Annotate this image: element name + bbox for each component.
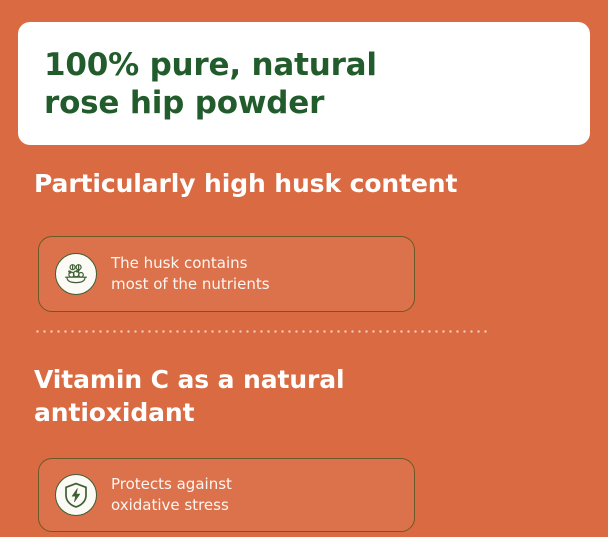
bowl-of-rose-hips-icon [55, 253, 97, 295]
feature-card-husk-text: The husk contains most of the nutrients [111, 253, 270, 296]
page-title: 100% pure, natural rose hip powder [44, 46, 564, 123]
feature-card-vitamin-c-line-2: oxidative stress [111, 495, 232, 516]
section-heading-vitamin-c-line-2: antioxidant [34, 397, 454, 430]
dotted-divider [34, 330, 489, 333]
hero-title-line-1: 100% pure, natural [44, 46, 564, 84]
section-heading-vitamin-c: Vitamin C as a natural antioxidant [34, 364, 454, 429]
feature-card-husk-line-2: most of the nutrients [111, 274, 270, 295]
feature-card-vitamin-c-text: Protects against oxidative stress [111, 474, 232, 517]
feature-card-vitamin-c-line-1: Protects against [111, 474, 232, 495]
shield-lightning-icon [55, 474, 97, 516]
hero-card: 100% pure, natural rose hip powder [18, 22, 590, 145]
section-heading-vitamin-c-line-1: Vitamin C as a natural [34, 364, 454, 397]
feature-card-husk[interactable]: The husk contains most of the nutrients [38, 236, 415, 312]
feature-card-vitamin-c[interactable]: Protects against oxidative stress [38, 458, 415, 532]
section-heading-husk-line-1: Particularly high husk content [34, 168, 554, 201]
section-heading-husk: Particularly high husk content [34, 168, 554, 201]
feature-card-husk-line-1: The husk contains [111, 253, 270, 274]
hero-title-line-2: rose hip powder [44, 84, 564, 122]
